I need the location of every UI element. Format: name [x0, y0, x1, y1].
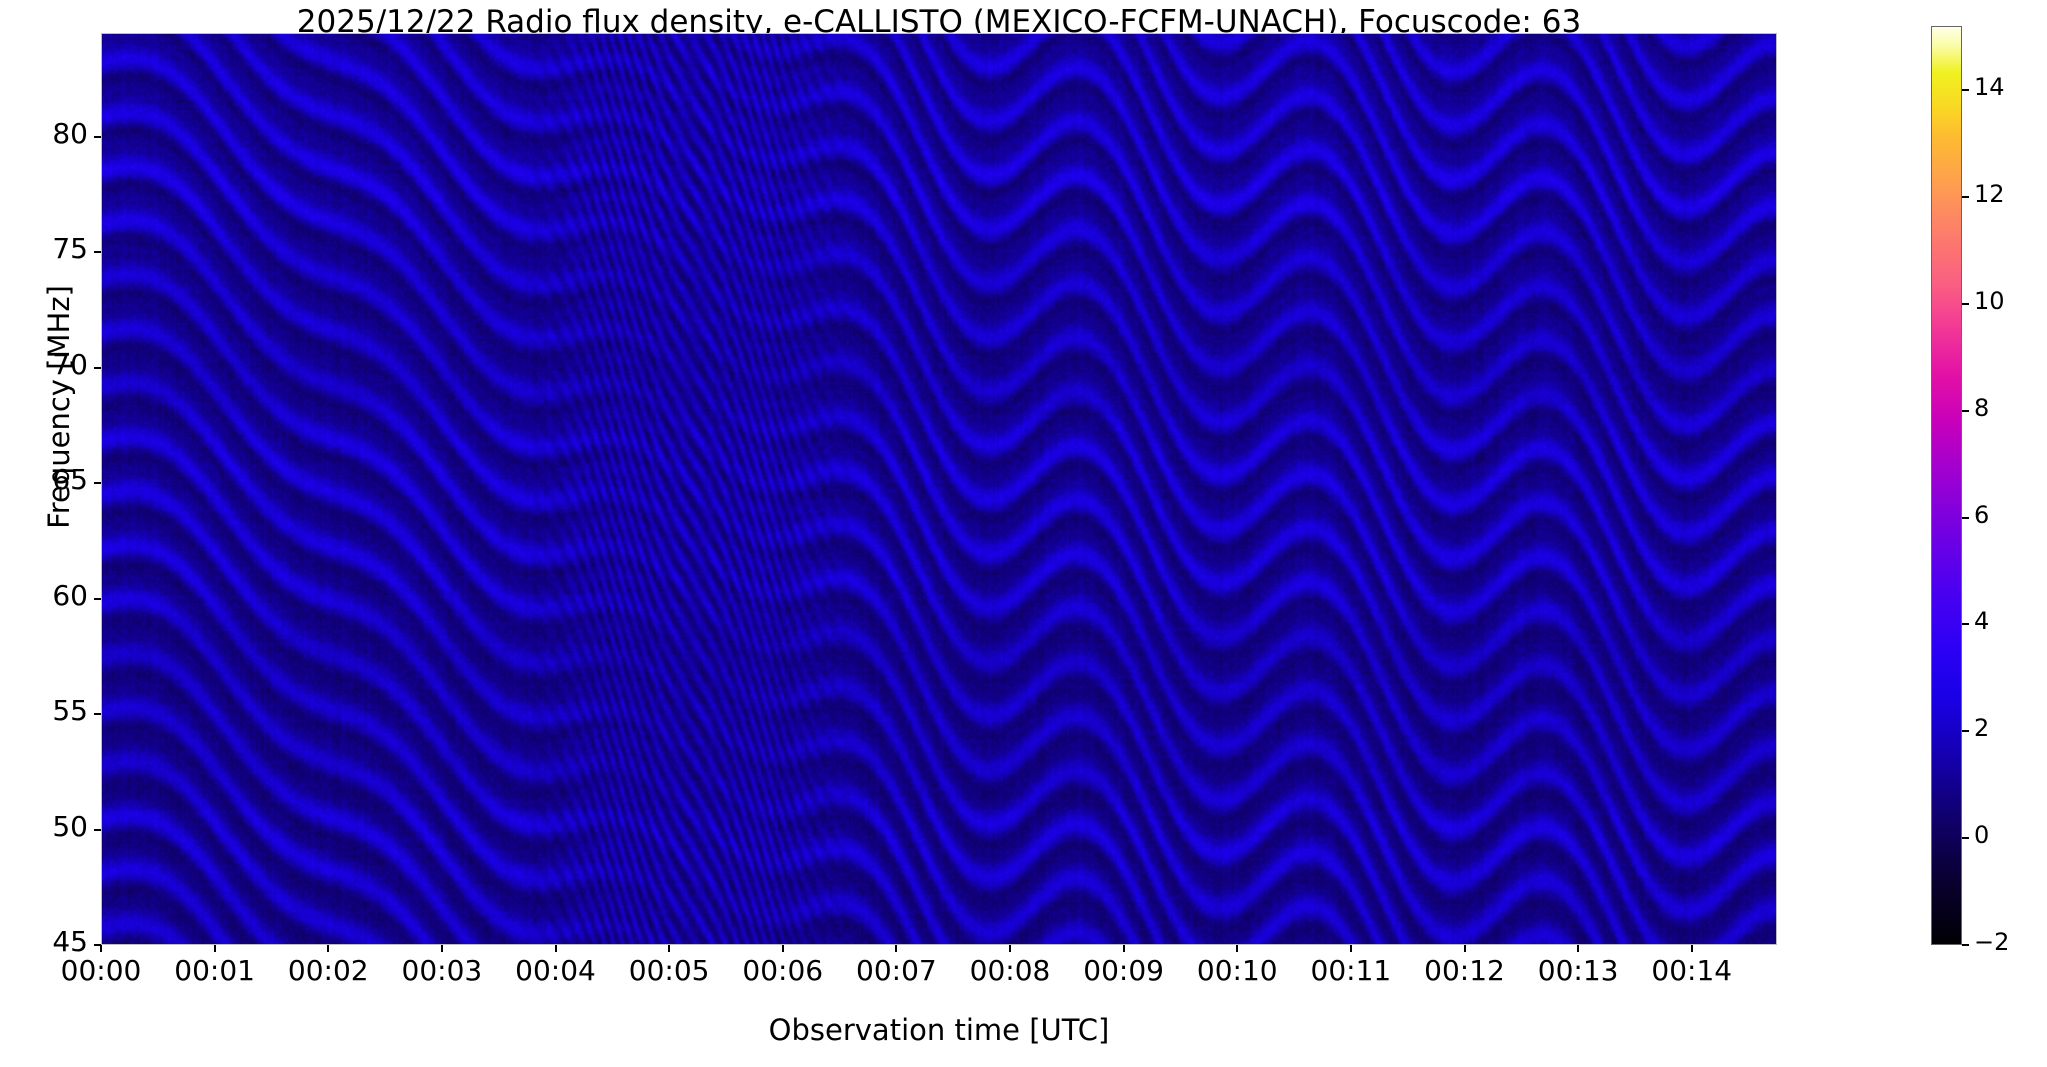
colorbar-tick-mark: [1962, 730, 1969, 732]
x-tick-mark: [1123, 945, 1125, 952]
colorbar[interactable]: −202468101214: [1931, 26, 1962, 945]
colorbar-tick-mark: [1962, 944, 1969, 946]
x-tick-mark: [327, 945, 329, 952]
x-tick-mark: [1577, 945, 1579, 952]
colorbar-gradient: [1931, 26, 1962, 945]
y-tick-mark: [94, 482, 101, 484]
y-tick-mark: [94, 367, 101, 369]
x-axis-label: Observation time [UTC]: [101, 1013, 1777, 1047]
x-tick-mark: [895, 945, 897, 952]
colorbar-tick-mark: [1962, 196, 1969, 198]
y-axis-label: Frequency [MHz]: [42, 207, 76, 607]
colorbar-tick-label: 12: [1974, 180, 2005, 208]
x-tick-mark: [782, 945, 784, 952]
colorbar-tick-label: 10: [1974, 287, 2005, 315]
y-tick-mark: [94, 251, 101, 253]
y-tick-label: 55: [52, 694, 88, 727]
y-tick-label: 50: [52, 810, 88, 843]
colorbar-tick-mark: [1962, 410, 1969, 412]
x-tick-mark: [1464, 945, 1466, 952]
x-tick-mark: [1009, 945, 1011, 952]
colorbar-tick-label: 14: [1974, 73, 2005, 101]
x-tick-label: 00:14: [1622, 954, 1762, 987]
x-tick-mark: [555, 945, 557, 952]
y-tick-mark: [94, 136, 101, 138]
x-tick-mark: [1236, 945, 1238, 952]
x-axis-ticks: 00:0000:0100:0200:0300:0400:0500:0600:07…: [0, 945, 2047, 1005]
y-tick-mark: [94, 598, 101, 600]
x-tick-mark: [441, 945, 443, 952]
colorbar-tick-mark: [1962, 623, 1969, 625]
x-tick-mark: [1350, 945, 1352, 952]
colorbar-ticks: −202468101214: [1962, 26, 2032, 945]
x-tick-mark: [1691, 945, 1693, 952]
colorbar-tick-label: 8: [1974, 394, 1989, 422]
y-tick-mark: [94, 829, 101, 831]
spectrogram-image: [102, 34, 1776, 944]
y-tick-mark: [94, 713, 101, 715]
colorbar-tick-label: 6: [1974, 501, 1989, 529]
colorbar-tick-label: 2: [1974, 714, 1989, 742]
colorbar-tick-mark: [1962, 837, 1969, 839]
x-tick-mark: [214, 945, 216, 952]
colorbar-tick-mark: [1962, 89, 1969, 91]
colorbar-tick-mark: [1962, 303, 1969, 305]
spectrogram-plot[interactable]: [101, 33, 1777, 945]
y-tick-label: 80: [52, 117, 88, 150]
colorbar-tick-mark: [1962, 517, 1969, 519]
x-tick-mark: [668, 945, 670, 952]
colorbar-tick-label: 0: [1974, 821, 1989, 849]
x-tick-mark: [100, 945, 102, 952]
colorbar-tick-label: 4: [1974, 607, 1989, 635]
colorbar-tick-label: −2: [1974, 928, 2009, 956]
